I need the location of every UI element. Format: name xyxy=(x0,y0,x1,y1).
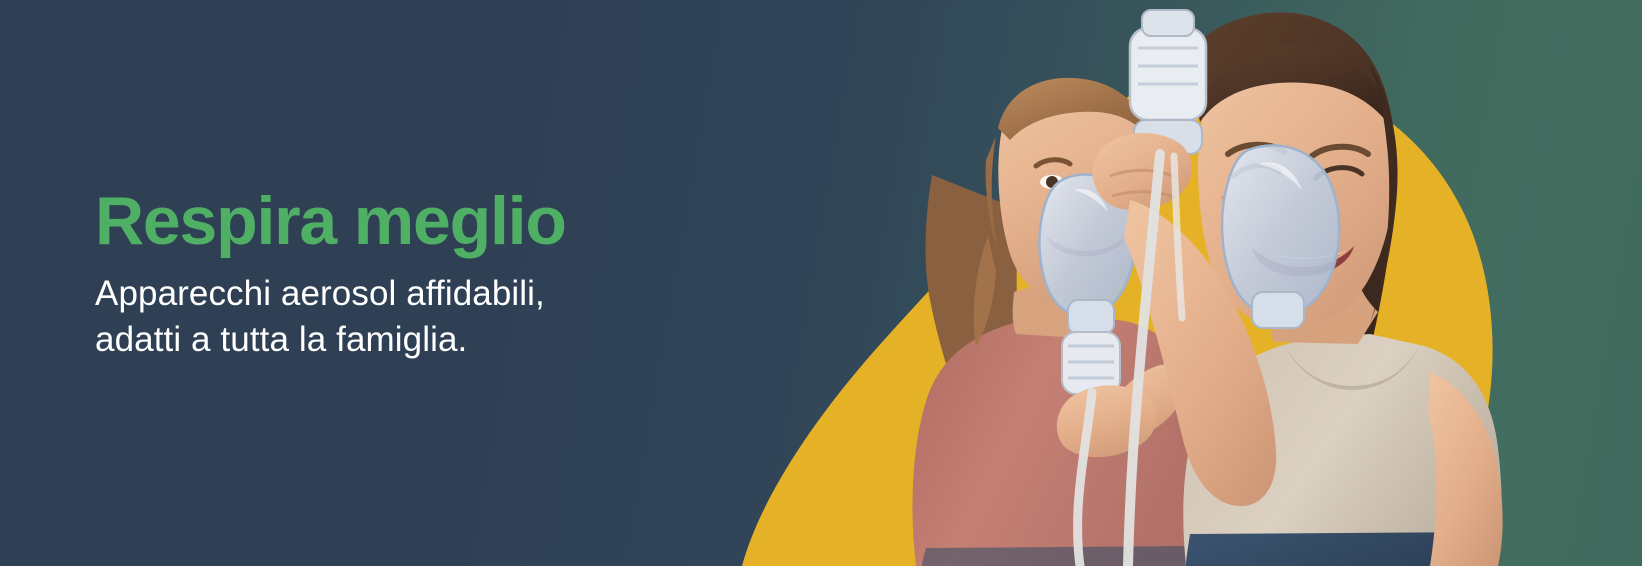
woman-forearm xyxy=(1124,200,1276,506)
hero-subtitle-line-2: adatti a tutta la famiglia. xyxy=(95,317,735,363)
child-arm xyxy=(1106,364,1184,440)
woman-face xyxy=(1198,49,1394,329)
child-hair xyxy=(998,78,1152,142)
hero-copy: Respira meglio Apparecchi aerosol affida… xyxy=(95,185,735,363)
hero-banner: Respira meglio Apparecchi aerosol affida… xyxy=(0,0,1642,566)
woman-shirt xyxy=(1183,334,1501,566)
hero-photo xyxy=(830,0,1642,566)
child-nebulizer-mask xyxy=(1039,175,1134,394)
woman-jeans xyxy=(1186,532,1498,566)
yellow-blob-shape xyxy=(742,62,1493,566)
hero-subtitle: Apparecchi aerosol affidabili, adatti a … xyxy=(95,271,735,363)
page-title: Respira meglio xyxy=(95,185,735,257)
child-figure xyxy=(912,78,1211,566)
child-face xyxy=(998,81,1154,304)
woman-hair xyxy=(1165,12,1395,404)
woman-figure xyxy=(1093,10,1503,566)
woman-hand xyxy=(1093,133,1192,210)
woman-nebulizer-mask xyxy=(1222,145,1339,328)
hero-subtitle-line-1: Apparecchi aerosol affidabili, xyxy=(95,271,735,317)
nebulizer-chamber xyxy=(1130,10,1206,154)
child-shirt xyxy=(912,314,1211,566)
